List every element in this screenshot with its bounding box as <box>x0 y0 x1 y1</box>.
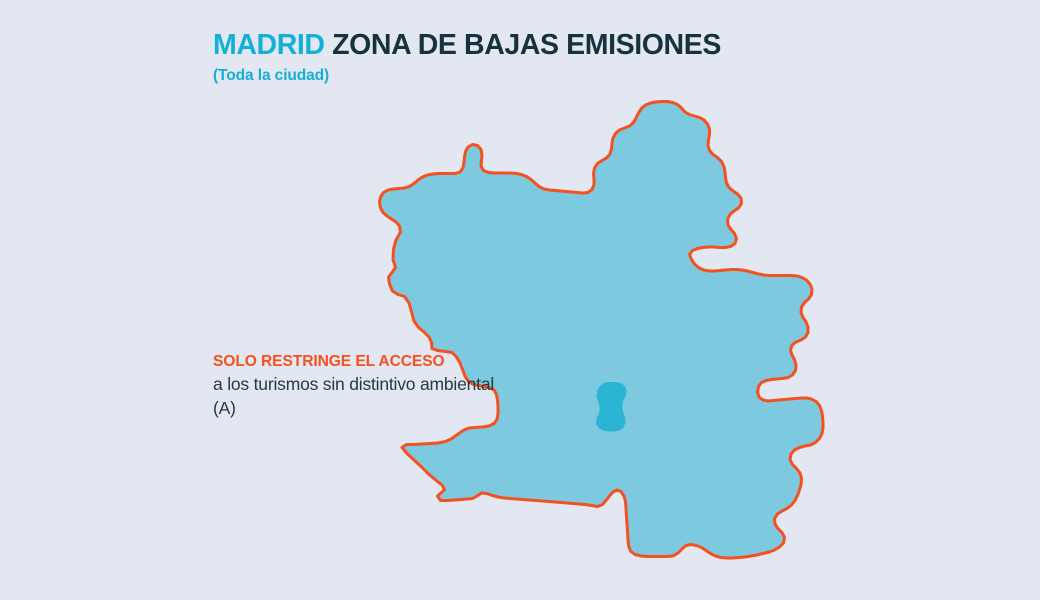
low-emission-zone-shape <box>380 102 824 559</box>
title-block: MADRID ZONA DE BAJAS EMISIONES (Toda la … <box>213 30 853 85</box>
caption-body: a los turismos sin distintivo ambiental … <box>213 373 513 419</box>
page-title: MADRID ZONA DE BAJAS EMISIONES <box>213 30 853 61</box>
map-container <box>0 0 1040 600</box>
title-rest-text: ZONA DE BAJAS EMISIONES <box>332 29 721 61</box>
centro-district-shape <box>596 382 627 432</box>
madrid-zone-map <box>0 0 1040 600</box>
infographic-root: MADRID ZONA DE BAJAS EMISIONES (Toda la … <box>0 0 1040 600</box>
page-subtitle: (Toda la ciudad) <box>213 67 853 85</box>
caption-highlight: SOLO RESTRINGE EL ACCESO <box>213 352 513 371</box>
title-rest <box>325 29 333 61</box>
title-city: MADRID <box>213 29 325 61</box>
caption-block: SOLO RESTRINGE EL ACCESO a los turismos … <box>213 352 513 420</box>
